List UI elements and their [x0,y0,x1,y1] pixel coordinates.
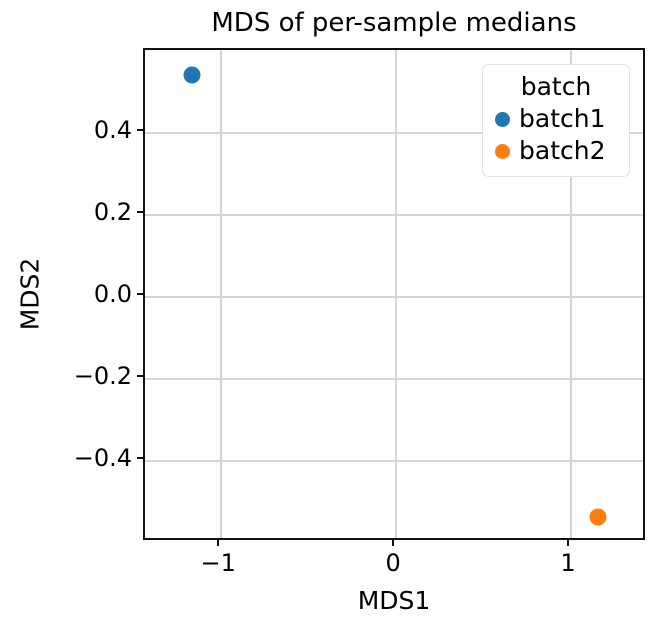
legend-entry-batch1[interactable]: batch1 [495,103,617,135]
gridline-y-0.2 [145,214,643,216]
x-axis-label: MDS1 [143,586,645,615]
ticklabel-y-0.2: 0.2 [94,198,132,226]
legend-label-batch2: batch2 [519,135,606,167]
chart-title: MDS of per-sample medians [143,6,645,40]
ticklabel-y-0.0: 0.0 [94,280,132,308]
legend-title: batch [495,71,617,103]
tick-x--1 [217,540,219,546]
data-point-batch1[interactable] [184,66,201,83]
mds-scatter-figure: MDS of per-sample medians −1 0 1 0.4 0.2… [0,0,660,637]
gridline-y--0.4 [145,460,643,462]
legend: batch batch1 batch2 [482,64,630,177]
tick-x-0 [392,540,394,546]
gridline-y-0.0 [145,296,643,298]
y-axis-label: MDS2 [16,258,45,331]
ticklabel-x--1: −1 [201,549,236,577]
tick-y--0.4 [137,457,143,459]
ticklabel-x-0: 0 [385,549,400,577]
data-point-batch2[interactable] [590,509,607,526]
legend-entry-batch2[interactable]: batch2 [495,135,617,167]
ticklabel-y--0.2: −0.2 [74,362,132,390]
legend-marker-icon-batch1 [495,112,510,127]
tick-y--0.2 [137,375,143,377]
ticklabel-y-0.4: 0.4 [94,116,132,144]
tick-y-0.0 [137,293,143,295]
gridline-x--1 [220,50,222,538]
gridline-y--0.2 [145,378,643,380]
gridline-x-0 [395,50,397,538]
tick-y-0.2 [137,211,143,213]
ticklabel-y--0.4: −0.4 [74,444,132,472]
tick-y-0.4 [137,129,143,131]
legend-marker-icon-batch2 [495,144,510,159]
legend-label-batch1: batch1 [519,103,606,135]
tick-x-1 [567,540,569,546]
ticklabel-x-1: 1 [560,549,575,577]
